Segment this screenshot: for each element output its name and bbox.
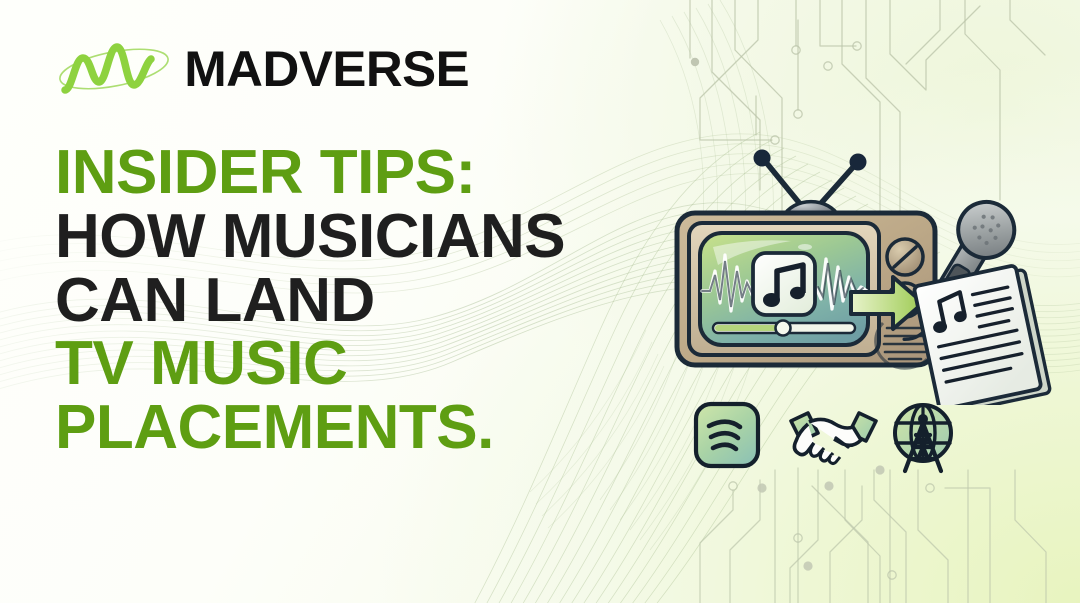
retro-tv-music-placement-illustration [655, 95, 1075, 405]
music-note-card-icon [753, 253, 815, 315]
spotify-waves-icon [696, 404, 758, 466]
headline-line-1: INSIDER TIPS: [55, 143, 675, 204]
headline-line-4: TV MUSIC [55, 334, 675, 395]
banner-root: MADVERSE INSIDER TIPS: HOW MUSICIANS CAN… [0, 0, 1080, 603]
sheet-music-document-icon [914, 263, 1051, 405]
waveform-orbit-logo-icon [55, 38, 173, 100]
headline-line-2: HOW MUSICIANS [55, 207, 675, 268]
headline-line-5: PLACEMENTS. [55, 398, 675, 459]
brand-wordmark: MADVERSE [184, 44, 469, 94]
headline-block: INSIDER TIPS: HOW MUSICIANS CAN LAND TV … [55, 143, 675, 459]
badge-row [690, 395, 960, 475]
progress-bar-icon [713, 321, 855, 336]
headline-line-3: CAN LAND [55, 271, 675, 332]
globe-broadcast-tower-icon [895, 405, 951, 471]
brand-logo[interactable]: MADVERSE [55, 38, 466, 100]
handshake-icon [791, 413, 876, 464]
